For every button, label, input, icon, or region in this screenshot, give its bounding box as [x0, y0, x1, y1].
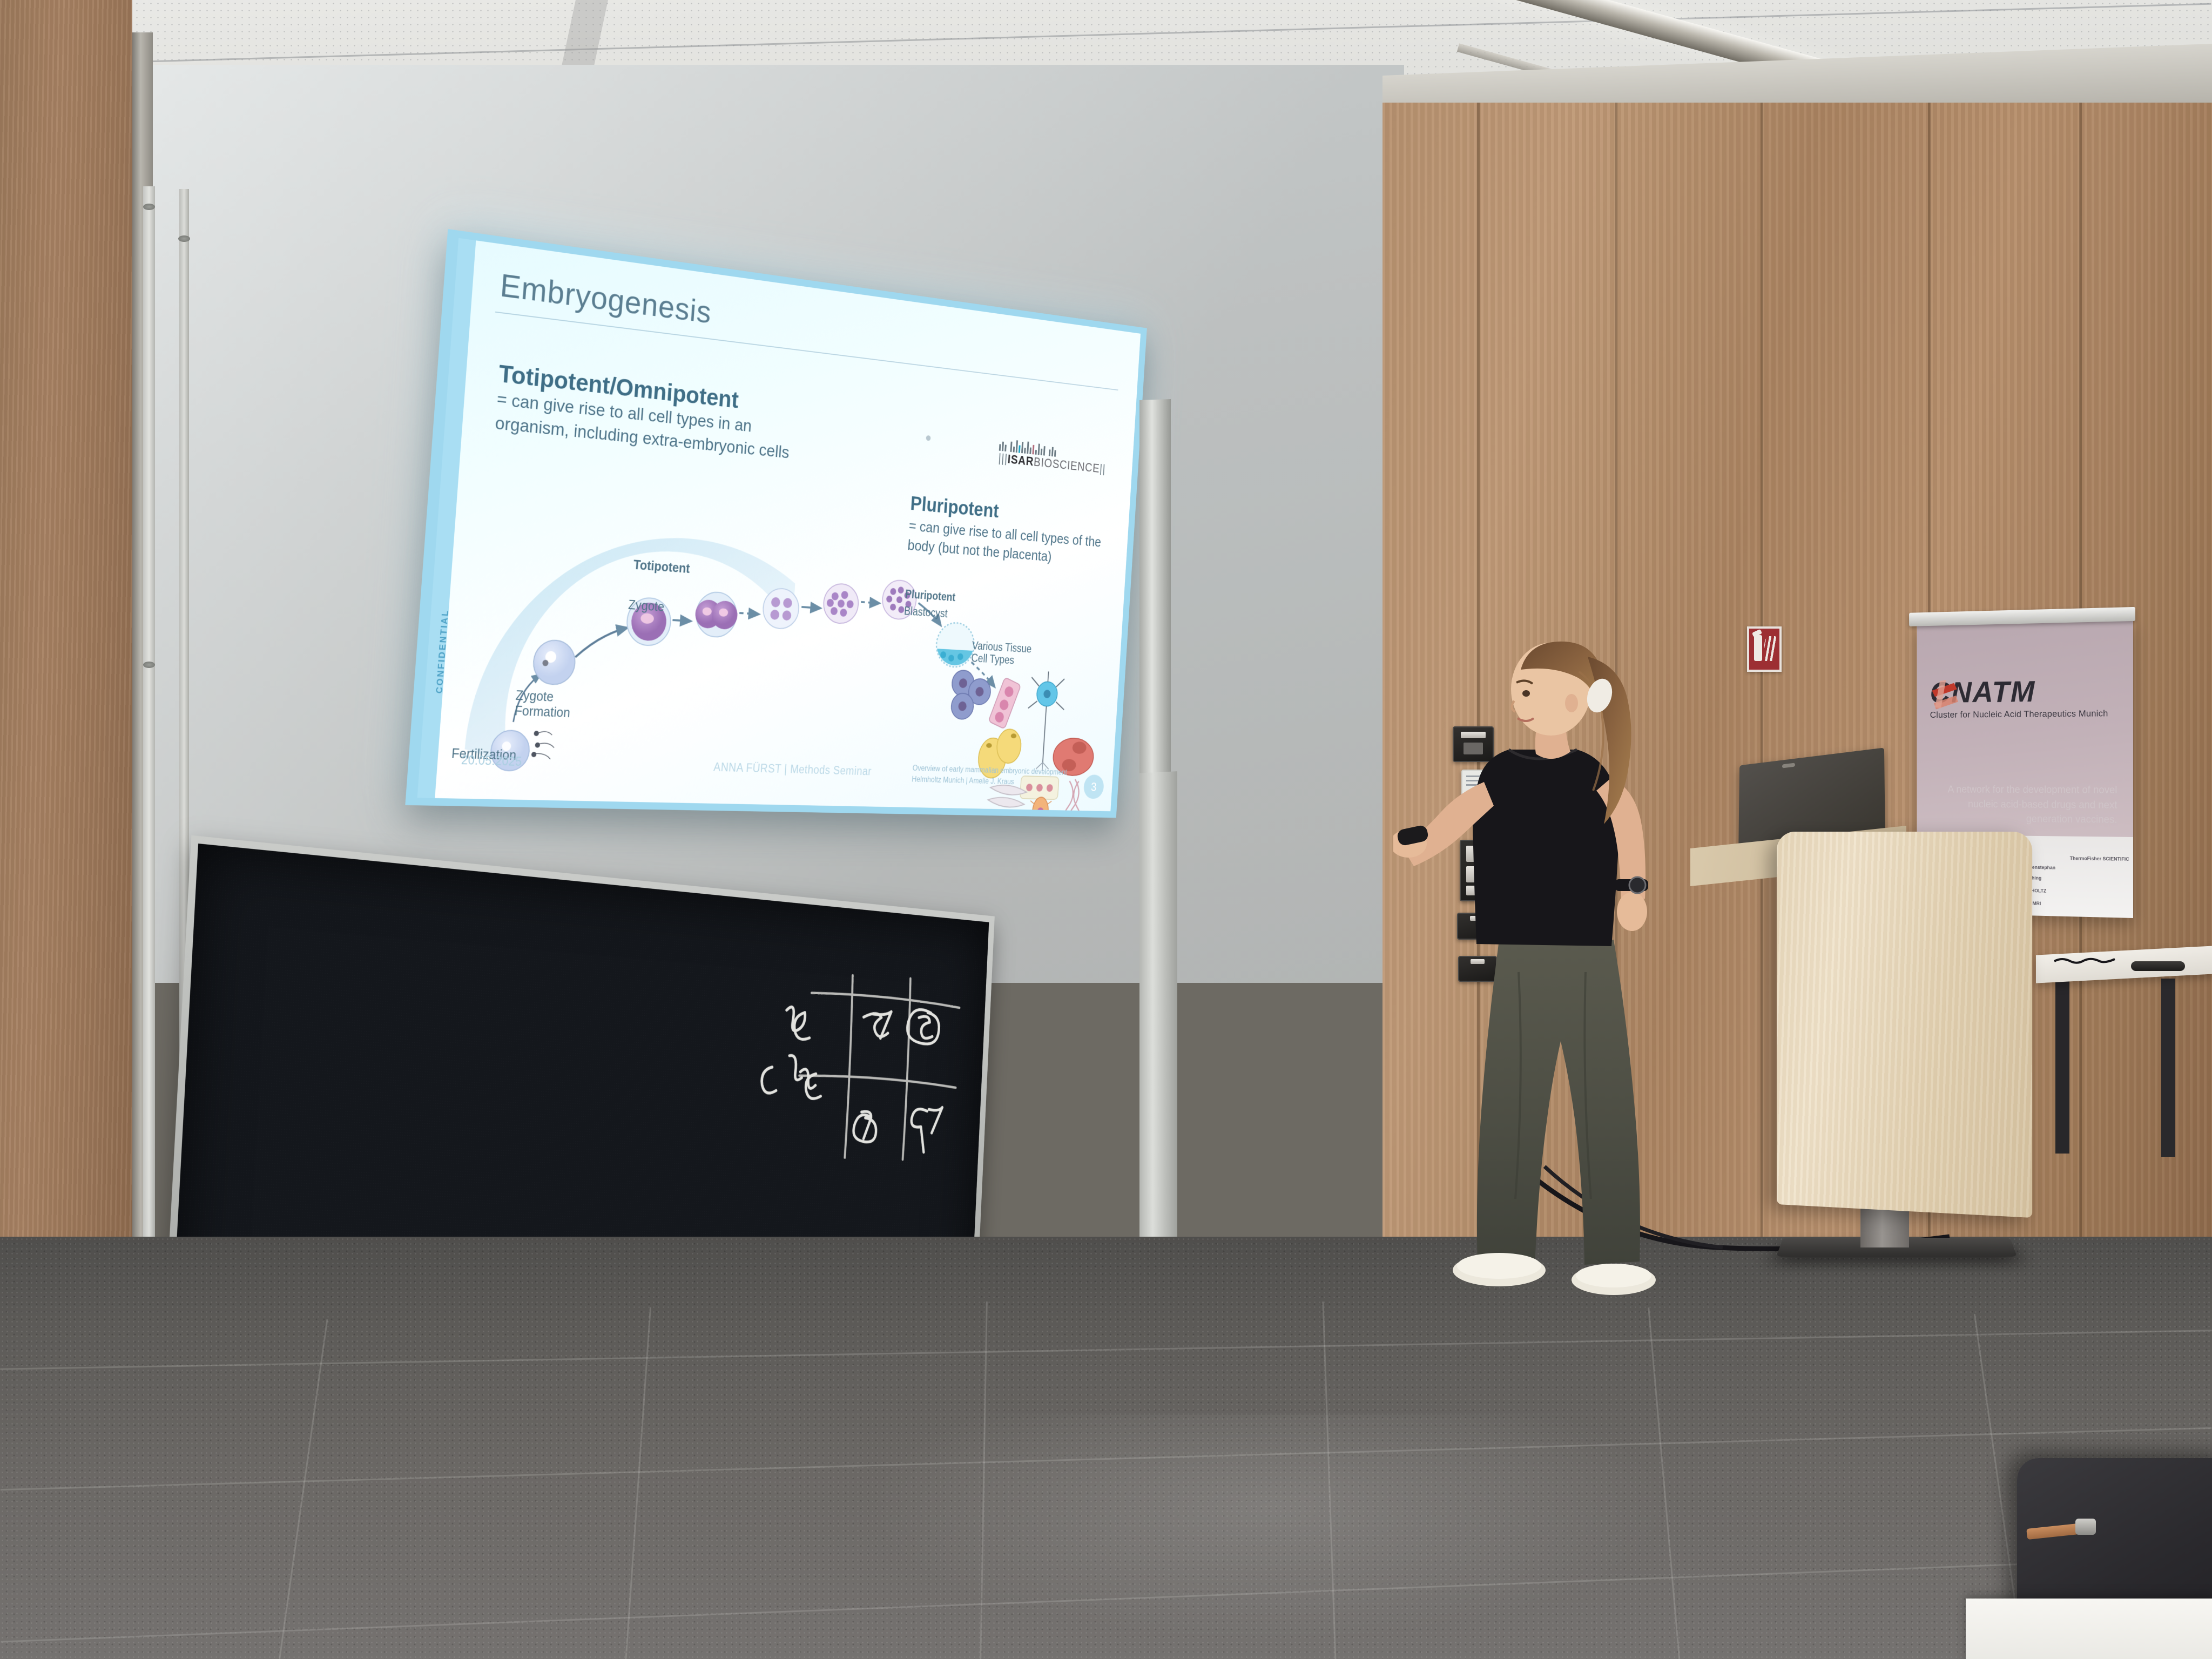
foreground-paper: [1966, 1599, 2212, 1659]
cnatm-tagline: A network for the development of novel n…: [1932, 783, 2117, 827]
slide-dot-marker: [926, 435, 930, 441]
lecture-hall-scene: CONFIDENTIAL Embryogenesis Totipotent/Om…: [0, 0, 2212, 1659]
fire-extinguisher-sign: [1747, 626, 1782, 672]
ear: [1565, 694, 1578, 712]
epithelial-cells: [988, 677, 1021, 729]
table-leg-left: [2055, 975, 2069, 1154]
slide-footer-attribution: Overview of early mammalian embryonic de…: [912, 763, 1068, 789]
left-wood-grain: [0, 0, 132, 1382]
muscle-fibers: [985, 785, 1027, 811]
podium-panel: [1777, 832, 2032, 1218]
remote-control[interactable]: [2131, 961, 2185, 971]
slide-surface: CONFIDENTIAL Embryogenesis Totipotent/Om…: [417, 238, 1141, 811]
label-zygote-formation: ZygoteFormation: [514, 688, 572, 720]
eyeglasses[interactable]: [2052, 957, 2117, 965]
wall-rail-strip-1: [143, 186, 155, 1331]
table-top: [2036, 946, 2212, 983]
cnatm-logo-mark: [1929, 679, 1960, 710]
cnatm-subtitle: Cluster for Nucleic Acid Therapeutics Mu…: [1930, 708, 2121, 720]
bag-zipper-pull: [2026, 1523, 2079, 1540]
isar-bioscience-logo: |||ISARBIOSCIENCE||: [998, 436, 1107, 476]
chalkboard-handwriting: [732, 949, 969, 1164]
cnatm-logo: CNATM Cluster for Nucleic Acid Therapeut…: [1930, 675, 2121, 720]
slide-title: Embryogenesis: [499, 266, 713, 331]
projection-screen: CONFIDENTIAL Embryogenesis Totipotent/Om…: [405, 229, 1147, 818]
eye: [1522, 690, 1530, 697]
podium-wood-grain: [1777, 832, 2032, 1218]
hand-right: [1617, 892, 1647, 931]
label-blastocyst: Blastocyst: [903, 604, 948, 620]
floor-reflection: [864, 1415, 1674, 1642]
trousers: [1477, 940, 1640, 1267]
screen-support-post: [1139, 399, 1171, 811]
slide-footer-date: 20.05.2025: [461, 753, 522, 769]
podium: [1777, 832, 2036, 1269]
partner-logo-thermofisher: ThermoFisher SCIENTIFIC: [2070, 855, 2129, 862]
label-zygote: Zygote: [628, 598, 665, 615]
blood-cells: [950, 670, 992, 720]
table-leg-right: [2161, 979, 2175, 1157]
side-table: [2036, 950, 2212, 1177]
bag-zipper-slider: [2075, 1519, 2096, 1535]
label-various-tissue-cell-types: Various TissueCell Types: [971, 639, 1032, 668]
presenter: [1393, 637, 1696, 1296]
